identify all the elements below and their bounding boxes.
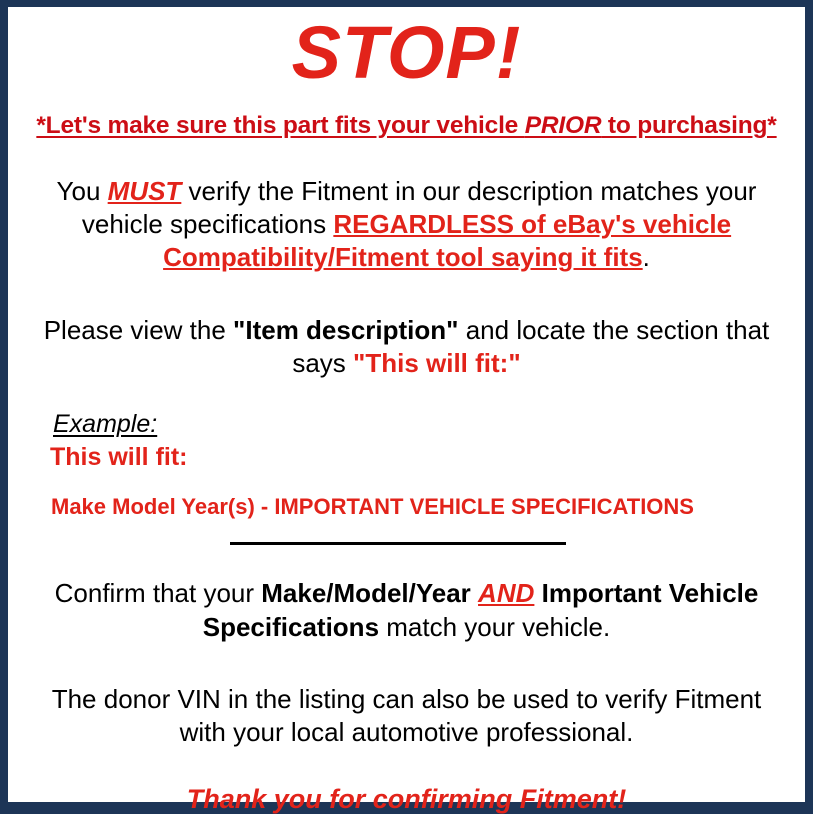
vin-paragraph: The donor VIN in the listing can also be…	[16, 683, 797, 750]
subtitle-tail: to purchasing*	[601, 112, 776, 139]
subtitle-emphasis-prior: PRIOR	[525, 112, 602, 139]
view-part-1: Please view the	[44, 315, 233, 345]
confirm-space-2	[534, 578, 541, 608]
example-block: Example: This will fit: Make Model Year(…	[16, 410, 797, 520]
notice-inner: STOP! *Let's make sure this part fits yo…	[8, 16, 805, 811]
example-label: Example:	[53, 410, 157, 439]
example-spec-line: Make Model Year(s) - IMPORTANT VEHICLE S…	[51, 494, 797, 520]
subtitle-line: *Let's make sure this part fits your veh…	[16, 113, 797, 140]
confirm-part-1: Confirm that your	[55, 578, 262, 608]
must-part-1: You	[57, 176, 108, 206]
fitment-notice-card: STOP! *Let's make sure this part fits yo…	[0, 0, 813, 814]
confirm-part-2: match your vehicle.	[379, 612, 610, 642]
and-emphasis: AND	[478, 578, 534, 608]
this-will-fit-quote: "This will fit:"	[353, 348, 521, 378]
subtitle-lead: *Let's make sure this part fits your veh…	[36, 112, 524, 139]
example-fit-heading: This will fit:	[50, 442, 797, 472]
thank-you-line: Thank you for confirming Fitment!	[16, 783, 797, 815]
item-description-emphasis: "Item description"	[233, 315, 458, 345]
divider-wrap	[16, 542, 797, 545]
confirm-space-1	[471, 578, 478, 608]
must-verify-paragraph: You MUST verify the Fitment in our descr…	[16, 175, 797, 275]
must-emphasis: MUST	[108, 176, 182, 206]
make-model-year-emphasis: Make/Model/Year	[261, 578, 471, 608]
confirm-paragraph: Confirm that your Make/Model/Year AND Im…	[16, 577, 797, 644]
must-part-3: .	[643, 242, 650, 272]
example-label-row: Example:	[53, 410, 797, 439]
stop-heading: STOP!	[16, 16, 797, 90]
view-description-paragraph: Please view the "Item description" and l…	[16, 314, 797, 381]
section-divider	[230, 542, 566, 545]
